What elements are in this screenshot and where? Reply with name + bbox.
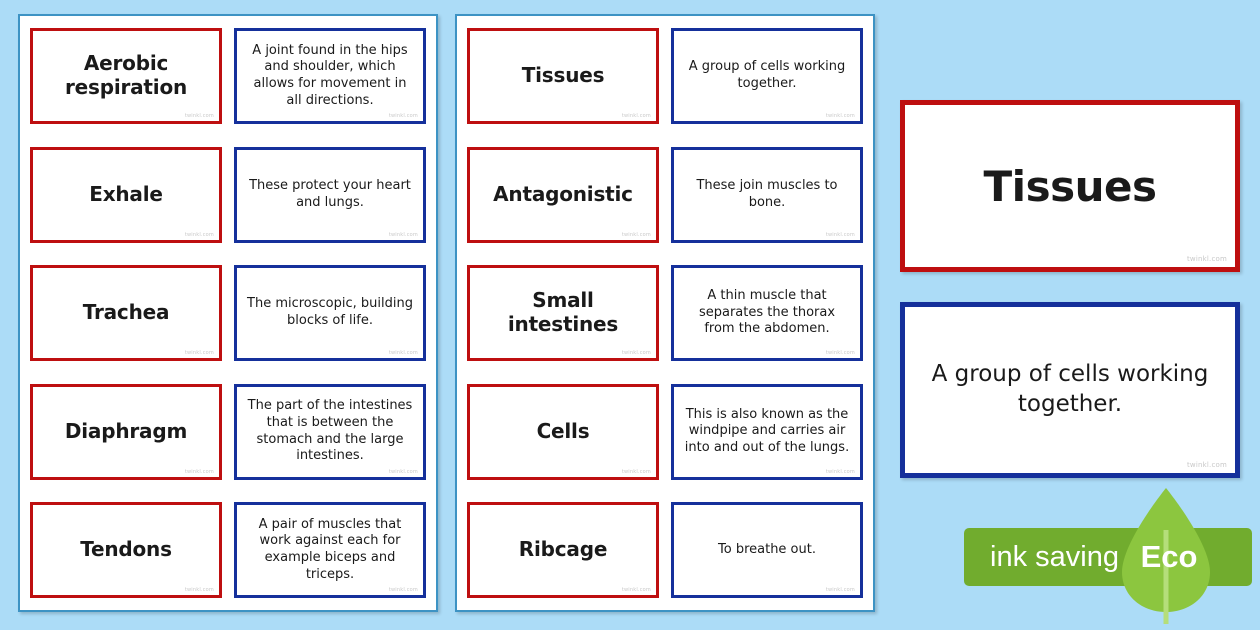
ink-saving-eco-badge: ink saving Eco: [964, 528, 1252, 586]
watermark: twinkl.com: [622, 113, 651, 119]
definition-card[interactable]: A thin muscle that separates the thorax …: [671, 265, 863, 361]
term-card[interactable]: Tissues twinkl.com: [467, 28, 659, 124]
card-row: Small intestines twinkl.com A thin muscl…: [467, 265, 863, 361]
card-row: Trachea twinkl.com The microscopic, buil…: [30, 265, 426, 361]
watermark: twinkl.com: [622, 350, 651, 356]
definition-card-text: A thin muscle that separates the thorax …: [674, 288, 860, 338]
card-row: Exhale twinkl.com These protect your hea…: [30, 147, 426, 243]
watermark: twinkl.com: [389, 469, 418, 475]
definition-card-text: A pair of muscles that work against each…: [237, 517, 423, 584]
definition-card-text: The part of the intestines that is betwe…: [237, 398, 423, 465]
term-card-text: Tendons: [71, 538, 181, 562]
definition-card-text: To breathe out.: [709, 542, 825, 559]
term-card[interactable]: Antagonistic twinkl.com: [467, 147, 659, 243]
card-row: Ribcage twinkl.com To breathe out. twink…: [467, 502, 863, 598]
term-card-text: Antagonistic: [484, 183, 642, 207]
card-row: Antagonistic twinkl.com These join muscl…: [467, 147, 863, 243]
watermark: twinkl.com: [185, 113, 214, 119]
term-card[interactable]: Cells twinkl.com: [467, 384, 659, 480]
card-row: Cells twinkl.com This is also known as t…: [467, 384, 863, 480]
definition-card-text: The microscopic, building blocks of life…: [237, 296, 423, 329]
preview-term-card[interactable]: Tissues twinkl.com: [900, 100, 1240, 272]
watermark: twinkl.com: [185, 232, 214, 238]
definition-card[interactable]: These protect your heart and lungs. twin…: [234, 147, 426, 243]
definition-card[interactable]: A joint found in the hips and shoulder, …: [234, 28, 426, 124]
card-row: Tissues twinkl.com A group of cells work…: [467, 28, 863, 124]
watermark: twinkl.com: [185, 587, 214, 593]
term-card[interactable]: Trachea twinkl.com: [30, 265, 222, 361]
watermark: twinkl.com: [622, 469, 651, 475]
term-card[interactable]: Diaphragm twinkl.com: [30, 384, 222, 480]
watermark: twinkl.com: [826, 113, 855, 119]
term-card-text: Diaphragm: [56, 420, 196, 444]
watermark: twinkl.com: [826, 469, 855, 475]
term-card[interactable]: Aerobic respiration twinkl.com: [30, 28, 222, 124]
term-card-text: Small intestines: [470, 289, 656, 336]
watermark: twinkl.com: [622, 232, 651, 238]
worksheet-panel-left: Aerobic respiration twinkl.com A joint f…: [18, 14, 438, 612]
card-row: Aerobic respiration twinkl.com A joint f…: [30, 28, 426, 124]
definition-card-text: A group of cells working together.: [674, 59, 860, 92]
watermark: twinkl.com: [826, 350, 855, 356]
preview-definition-card-text: A group of cells working together.: [905, 360, 1235, 420]
definition-card[interactable]: This is also known as the windpipe and c…: [671, 384, 863, 480]
watermark: twinkl.com: [1187, 461, 1227, 469]
term-card[interactable]: Tendons twinkl.com: [30, 502, 222, 598]
term-card-text: Aerobic respiration: [33, 52, 219, 99]
watermark: twinkl.com: [389, 350, 418, 356]
watermark: twinkl.com: [389, 587, 418, 593]
definition-card-text: This is also known as the windpipe and c…: [674, 407, 860, 457]
eco-leaf-label: Eco: [1134, 528, 1204, 586]
term-card[interactable]: Small intestines twinkl.com: [467, 265, 659, 361]
card-row: Tendons twinkl.com A pair of muscles tha…: [30, 502, 426, 598]
card-row: Diaphragm twinkl.com The part of the int…: [30, 384, 426, 480]
preview-term-card-text: Tissues: [984, 162, 1157, 211]
definition-card[interactable]: These join muscles to bone. twinkl.com: [671, 147, 863, 243]
definition-card[interactable]: The microscopic, building blocks of life…: [234, 265, 426, 361]
term-card-text: Tissues: [513, 64, 614, 88]
watermark: twinkl.com: [1187, 255, 1227, 263]
watermark: twinkl.com: [185, 469, 214, 475]
term-card[interactable]: Exhale twinkl.com: [30, 147, 222, 243]
definition-card[interactable]: A group of cells working together. twink…: [671, 28, 863, 124]
term-card-text: Ribcage: [510, 538, 616, 562]
term-card[interactable]: Ribcage twinkl.com: [467, 502, 659, 598]
eco-bar-label: ink saving: [990, 528, 1119, 586]
definition-card-text: These join muscles to bone.: [674, 178, 860, 211]
watermark: twinkl.com: [389, 232, 418, 238]
watermark: twinkl.com: [826, 587, 855, 593]
definition-card[interactable]: To breathe out. twinkl.com: [671, 502, 863, 598]
term-card-text: Cells: [528, 420, 599, 444]
watermark: twinkl.com: [622, 587, 651, 593]
watermark: twinkl.com: [389, 113, 418, 119]
definition-card-text: These protect your heart and lungs.: [237, 178, 423, 211]
definition-card[interactable]: The part of the intestines that is betwe…: [234, 384, 426, 480]
watermark: twinkl.com: [826, 232, 855, 238]
term-card-text: Trachea: [74, 301, 179, 325]
definition-card-text: A joint found in the hips and shoulder, …: [237, 43, 423, 110]
watermark: twinkl.com: [185, 350, 214, 356]
preview-definition-card[interactable]: A group of cells working together. twink…: [900, 302, 1240, 478]
definition-card[interactable]: A pair of muscles that work against each…: [234, 502, 426, 598]
term-card-text: Exhale: [80, 183, 172, 207]
worksheet-panel-right: Tissues twinkl.com A group of cells work…: [455, 14, 875, 612]
